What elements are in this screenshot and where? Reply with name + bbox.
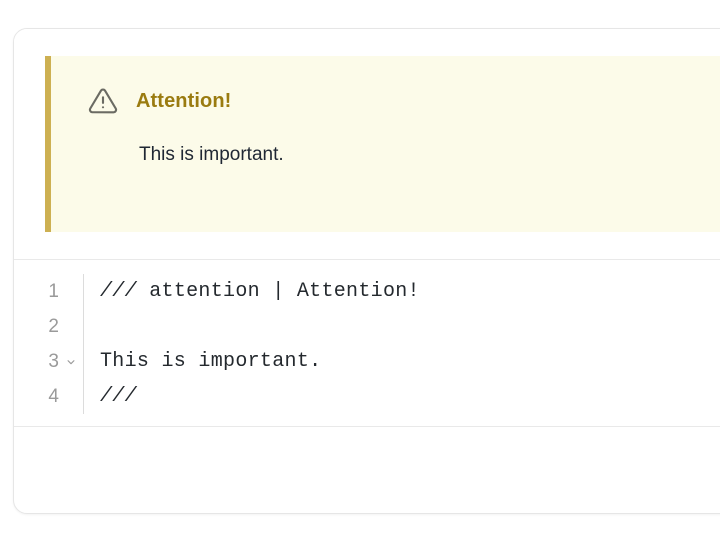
code-line-text[interactable] <box>84 309 720 344</box>
code-line-row[interactable]: 4/// <box>14 379 720 414</box>
code-token-content: attention | Attention! <box>149 280 420 303</box>
code-token-fence: /// <box>100 280 149 303</box>
code-line-text[interactable]: /// <box>84 379 720 414</box>
line-number: 1 <box>14 274 59 309</box>
code-line-text[interactable]: This is important. <box>84 344 720 379</box>
line-number: 2 <box>14 309 59 344</box>
admonition-title: Attention! <box>136 91 231 111</box>
admonition-demo-card: Attention! This is important. 1/// atten… <box>13 28 720 514</box>
admonition-body-text: This is important. <box>51 116 720 169</box>
fold-placeholder <box>59 274 83 309</box>
code-editor-pane[interactable]: 1/// attention | Attention!23This is imp… <box>14 260 720 427</box>
page-root: Attention! This is important. 1/// atten… <box>0 0 720 544</box>
code-line-row[interactable]: 2 <box>14 309 720 344</box>
code-line-list[interactable]: 1/// attention | Attention!23This is imp… <box>14 274 720 414</box>
fold-placeholder <box>59 309 83 344</box>
code-line-row[interactable]: 1/// attention | Attention! <box>14 274 720 309</box>
line-number: 4 <box>14 379 59 414</box>
warning-triangle-icon <box>88 86 118 116</box>
chevron-down-icon[interactable] <box>59 344 83 379</box>
code-token-fence: /// <box>100 385 137 408</box>
card-footer <box>14 427 720 483</box>
preview-pane: Attention! This is important. <box>14 29 720 260</box>
line-number: 3 <box>14 344 59 379</box>
code-token-content: This is important. <box>100 350 321 373</box>
code-line-row[interactable]: 3This is important. <box>14 344 720 379</box>
attention-admonition: Attention! This is important. <box>45 56 720 232</box>
fold-placeholder <box>59 379 83 414</box>
code-line-text[interactable]: /// attention | Attention! <box>84 274 720 309</box>
admonition-title-row: Attention! <box>51 56 720 116</box>
